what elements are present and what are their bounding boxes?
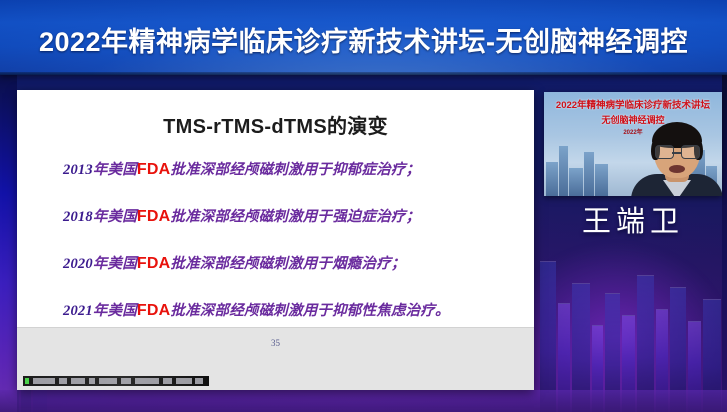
bullet-year: 2013 [63,162,93,178]
bullet-tail: 批准深部经颅磁刺激用于抑郁性焦虑治疗。 [170,303,449,319]
slide-bullet-list: 2013年美国FDA批准深部经颅磁刺激用于抑郁症治疗； 2018年美国FDA批准… [63,158,514,346]
presenter-name: 王端卫 [544,198,722,240]
caption-watermark-bar [23,376,209,386]
list-item: 2018年美国FDA批准深部经颅磁刺激用于强迫症治疗； [63,205,514,226]
list-item: 2013年美国FDA批准深部经颅磁刺激用于抑郁症治疗； [63,158,514,179]
bullet-brand: FDA [137,208,170,225]
presenter-avatar [631,122,722,196]
slide-page-number: 35 [17,338,534,348]
record-indicator-icon [25,378,29,384]
slide-title: TMS-rTMS-dTMS的演变 [17,110,534,139]
bullet-lead: 年美国 [93,303,137,319]
screen-root: 2022年精神病学临床诊疗新技术讲坛-无创脑神经调控 TMS-rTMS-dTMS… [0,0,727,412]
bullet-tail: 批准深部经颅磁刺激用于抑郁症治疗； [170,162,420,178]
bullet-lead: 年美国 [93,256,137,272]
video-overlay-title: 2022年精神病学临床诊疗新技术讲坛 [544,100,722,113]
bullet-year: 2020 [63,256,93,272]
bottom-frame-edge [0,390,727,412]
bullet-lead: 年美国 [93,162,137,178]
bullet-tail: 批准深部经颅磁刺激用于烟瘾治疗； [170,256,405,272]
slide-content-area: TMS-rTMS-dTMS的演变 2013年美国FDA批准深部经颅磁刺激用于抑郁… [17,90,534,328]
left-frame-edge [0,75,17,412]
avatar-mouth [669,165,685,173]
list-item: 2020年美国FDA批准深部经颅磁刺激用于烟瘾治疗； [63,252,514,273]
bullet-year: 2018 [63,209,93,225]
page-title: 2022年精神病学临床诊疗新技术讲坛-无创脑神经调控 [39,20,688,59]
list-item: 2021年美国FDA批准深部经颅磁刺激用于抑郁性焦虑治疗。 [63,299,514,320]
header-banner: 2022年精神病学临床诊疗新技术讲坛-无创脑神经调控 [0,0,727,75]
bullet-year: 2021 [63,303,93,319]
bullet-brand: FDA [137,255,170,272]
avatar-glasses-right-lens [681,145,700,159]
bullet-brand: FDA [137,161,170,178]
avatar-glasses-bridge [672,152,681,154]
bullet-tail: 批准深部经颅磁刺激用于强迫症治疗； [170,209,420,225]
bullet-brand: FDA [137,302,170,319]
slide-panel[interactable]: TMS-rTMS-dTMS的演变 2013年美国FDA批准深部经颅磁刺激用于抑郁… [17,90,534,390]
slide-footer-strip: 35 [17,327,534,390]
bullet-lead: 年美国 [93,209,137,225]
presenter-video-thumbnail[interactable]: 2022年精神病学临床诊疗新技术讲坛 无创脑神经调控 2022年 [544,92,722,196]
right-frame-edge [722,75,727,412]
